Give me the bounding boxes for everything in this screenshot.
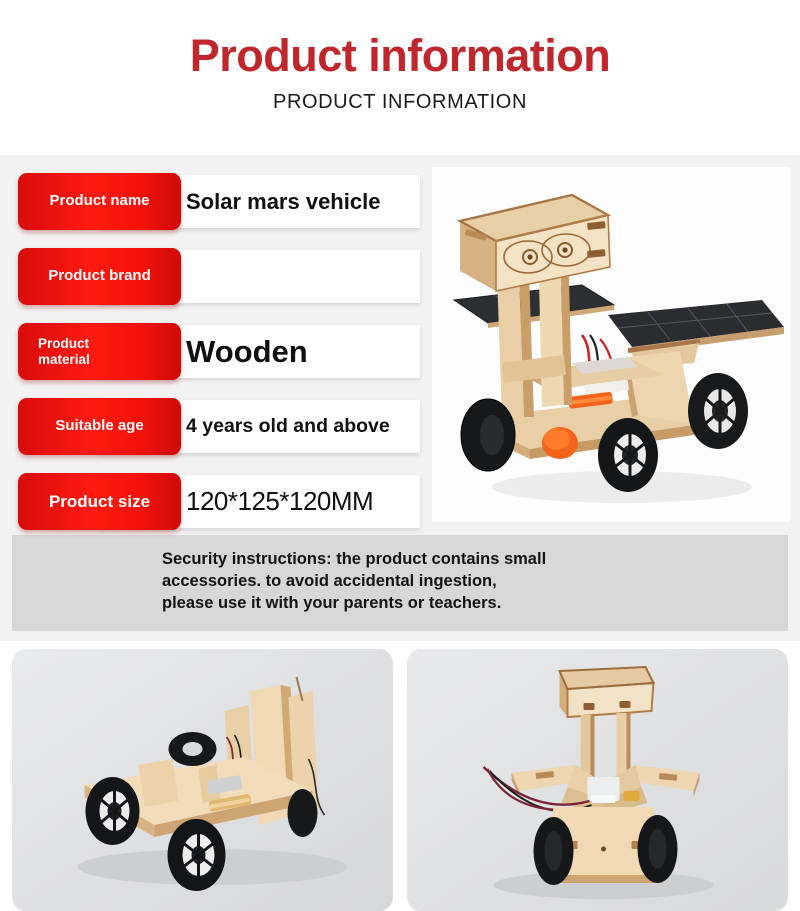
spec-table: Solar mars vehicle Product name Product …	[0, 155, 425, 548]
security-notice: Security instructions: the product conta…	[12, 535, 788, 631]
wheel	[638, 815, 678, 883]
spec-label-text: Product material	[26, 336, 173, 366]
page-title: Product information	[0, 32, 800, 79]
security-notice-wrapper: Security instructions: the product conta…	[0, 535, 800, 641]
gallery-photo-chassis	[12, 649, 393, 911]
spec-label-text: Product name	[49, 193, 149, 210]
spec-row-product-size: 120*125*120MM Product size	[0, 473, 425, 530]
rover-head	[560, 667, 654, 717]
spec-label-product-size: Product size	[18, 473, 181, 530]
spec-label-product-brand: Product brand	[18, 248, 181, 305]
wheel	[534, 817, 574, 885]
hero-product-photo	[432, 167, 790, 522]
wheel	[288, 789, 318, 837]
wheel-front-right	[688, 373, 748, 449]
security-notice-text: Security instructions: the product conta…	[162, 549, 768, 615]
spec-label-product-name: Product name	[18, 173, 181, 230]
spec-label-text: Suitable age	[55, 418, 143, 435]
page-subtitle: PRODUCT INFORMATION	[0, 91, 800, 114]
spec-label-product-material: Product material	[18, 323, 181, 380]
product-spec-section: Solar mars vehicle Product name Product …	[0, 155, 800, 535]
spec-value-product-name: Solar mars vehicle	[186, 189, 380, 215]
wheel-front-left	[598, 418, 658, 492]
page-header: Product information PRODUCT INFORMATION	[0, 0, 800, 155]
spec-row-product-name: Solar mars vehicle Product name	[0, 173, 425, 230]
spec-value-product-material: Wooden	[186, 334, 308, 370]
spec-row-product-material: Wooden Product material	[0, 323, 425, 380]
wheel-rear-left	[461, 399, 515, 471]
spec-value-suitable-age: 4 years old and above	[186, 415, 390, 438]
spec-row-suitable-age: 4 years old and above Suitable age	[0, 398, 425, 455]
spec-label-text: Product brand	[48, 268, 151, 285]
spec-label-suitable-age: Suitable age	[18, 398, 181, 455]
wheel	[86, 777, 140, 845]
wheel	[168, 819, 226, 891]
product-gallery	[0, 641, 800, 911]
spec-row-product-brand: Product brand	[0, 248, 425, 305]
gallery-photo-front-view	[407, 649, 788, 911]
spec-label-text: Product size	[49, 492, 150, 511]
spec-value-product-size: 120*125*120MM	[186, 486, 373, 517]
wheel	[169, 732, 217, 766]
